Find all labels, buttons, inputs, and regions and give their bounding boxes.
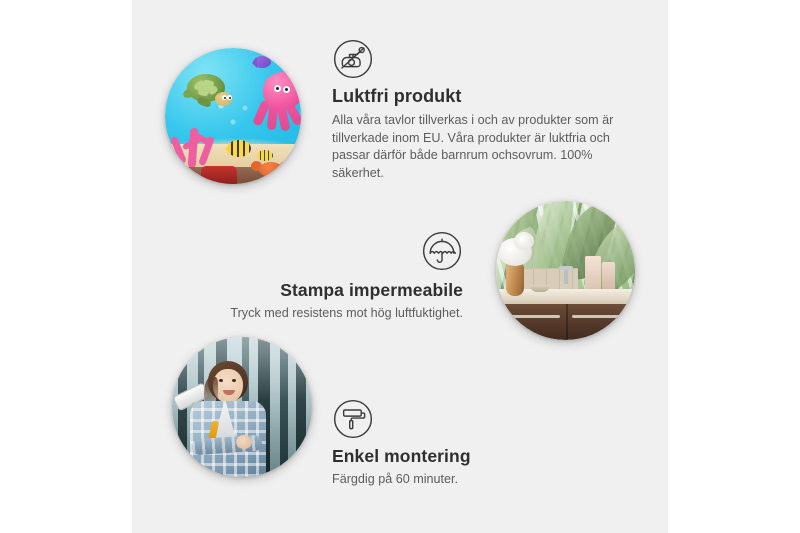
feature-description: Färgdig på 60 minuter. <box>332 471 592 489</box>
feature-easy-mounting: Enkel montering Färgdig på 60 minuter. <box>332 398 592 489</box>
purple-fish <box>253 56 271 68</box>
white-flowers <box>498 238 532 266</box>
turtle <box>181 74 233 110</box>
feature-title: Stampa impermeabile <box>183 280 463 300</box>
gold-vase <box>506 262 524 296</box>
product-image-underwater <box>165 48 301 184</box>
feature-title: Enkel montering <box>332 446 592 466</box>
striped-fish <box>227 140 251 157</box>
umbrella-icon <box>421 230 463 272</box>
wooden-vanity <box>496 304 635 340</box>
feature-waterproof: Stampa impermeabile Tryck med resistens … <box>183 230 463 323</box>
feature-description: Tryck med resistens mot hög luftfuktighe… <box>183 305 463 323</box>
product-image-forest <box>172 337 312 477</box>
no-fragrance-icon <box>332 38 374 80</box>
paint-roller-icon <box>332 398 374 440</box>
crab <box>251 158 291 180</box>
feature-title: Luktfri produkt <box>332 86 624 107</box>
feature-odourless: Luktfri produkt Alla våra tavlor tillver… <box>332 38 624 183</box>
promo-graphic: Luktfri produkt Alla våra tavlor tillver… <box>0 0 800 533</box>
feature-description: Alla våra tavlor tillverkas i och av pro… <box>332 112 624 184</box>
product-image-bathroom <box>496 201 635 340</box>
person <box>186 359 270 477</box>
octopus <box>249 72 301 138</box>
faucet <box>558 266 574 284</box>
